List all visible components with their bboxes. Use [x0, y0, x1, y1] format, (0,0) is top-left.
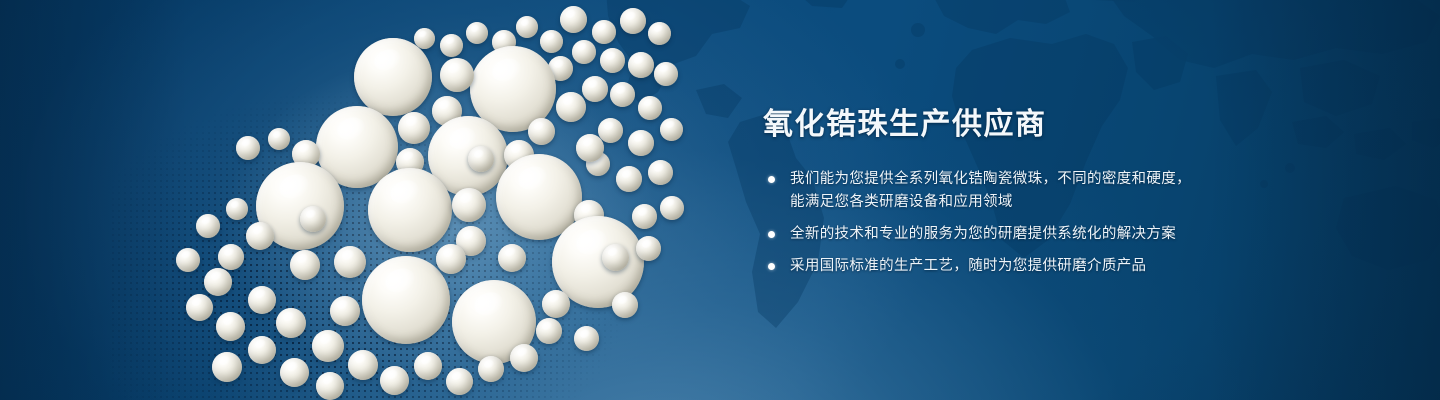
list-item-line: 能满足您各类研磨设备和应用领域	[790, 191, 1233, 214]
bullet-dot-icon	[768, 263, 775, 270]
hero-banner: 氧化锆珠生产供应商 我们能为您提供全系列氧化锆陶瓷微珠，不同的密度和硬度， 能满…	[0, 0, 1440, 400]
list-item: 采用国际标准的生产工艺，随时为您提供研磨介质产品	[763, 255, 1233, 278]
list-item-line: 我们能为您提供全系列氧化锆陶瓷微珠，不同的密度和硬度，	[790, 171, 1191, 187]
banner-headline: 氧化锆珠生产供应商	[763, 108, 1233, 142]
bullet-dot-icon	[768, 231, 775, 238]
list-item: 我们能为您提供全系列氧化锆陶瓷微珠，不同的密度和硬度， 能满足您各类研磨设备和应…	[763, 168, 1233, 214]
banner-copy: 氧化锆珠生产供应商 我们能为您提供全系列氧化锆陶瓷微珠，不同的密度和硬度， 能满…	[763, 108, 1233, 278]
zirconia-beads-image	[0, 0, 760, 400]
list-item-line: 全新的技术和专业的服务为您的研磨提供系统化的解决方案	[790, 226, 1176, 242]
bullet-dot-icon	[768, 176, 775, 183]
banner-feature-list: 我们能为您提供全系列氧化锆陶瓷微珠，不同的密度和硬度， 能满足您各类研磨设备和应…	[763, 168, 1233, 278]
list-item-line: 采用国际标准的生产工艺，随时为您提供研磨介质产品	[790, 258, 1146, 274]
list-item: 全新的技术和专业的服务为您的研磨提供系统化的解决方案	[763, 223, 1233, 246]
